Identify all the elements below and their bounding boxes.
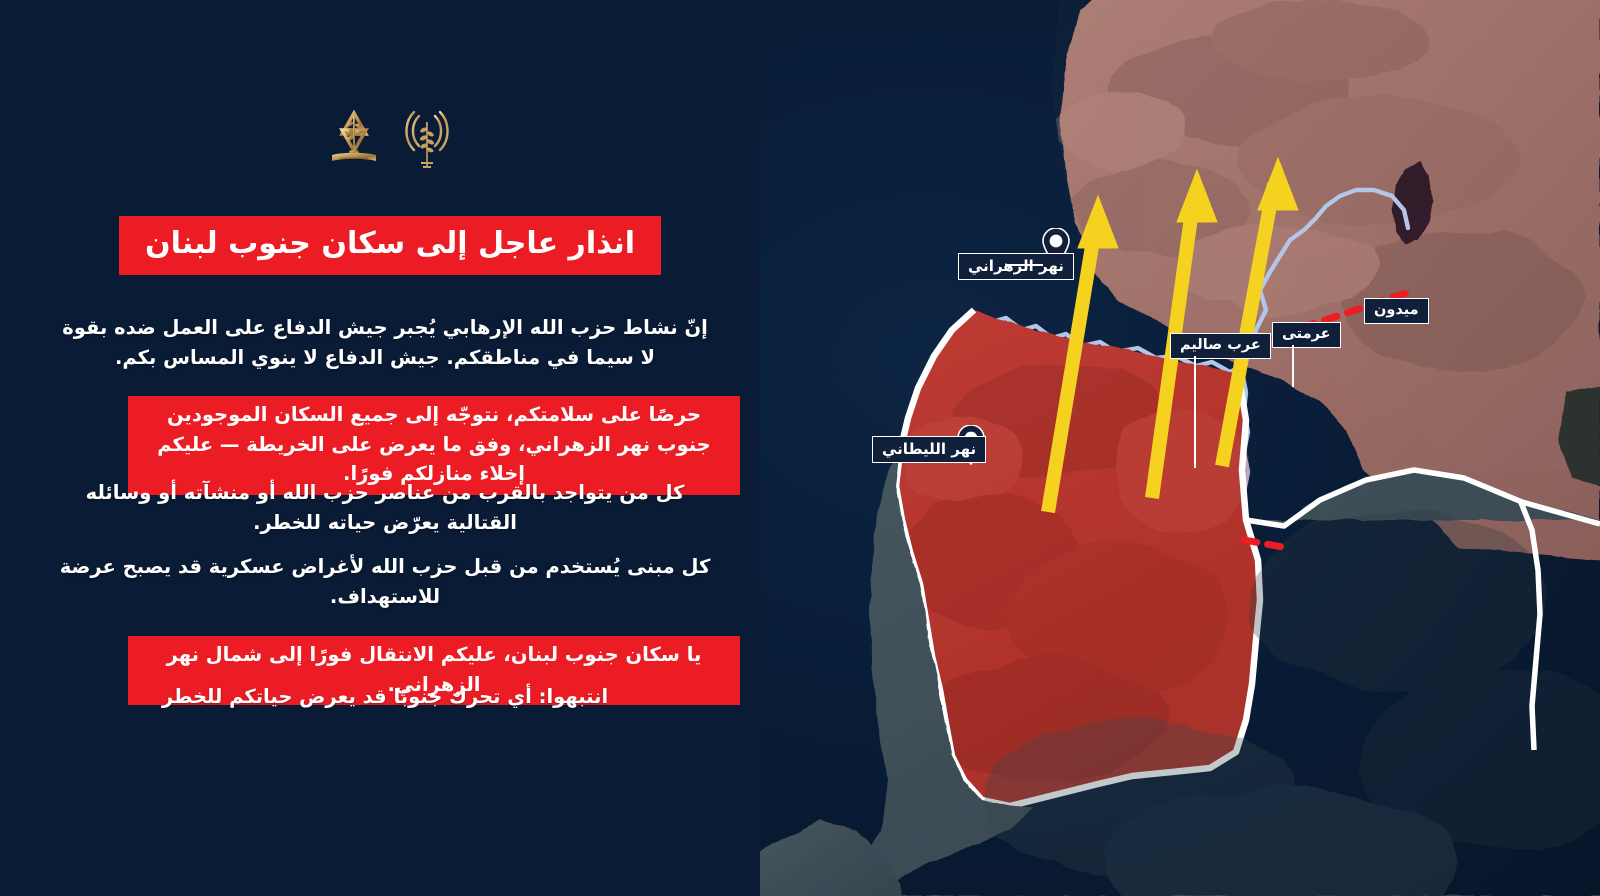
emblem-row — [0, 108, 780, 170]
map-label-zahrani-river: نهر الزهراني — [958, 253, 1074, 280]
warning-paragraph-1: إنّ نشاط حزب الله الإرهابي يُجبر جيش الد… — [55, 313, 715, 372]
map-label-armata: عرمتى — [1272, 322, 1341, 348]
map-label-arab-salim: عرب صاليم — [1170, 333, 1271, 359]
evacuation-warning-graphic: نهر الزهراني نهر الليطاني عرب صاليم عرمت… — [0, 0, 1600, 896]
warning-paragraph-4: انتبهوا: أي تحرك جنوبًا قد يعرض حياتكم ل… — [55, 682, 715, 712]
label-leader-arab-salim — [1194, 356, 1196, 468]
warning-text-panel: انذار عاجل إلى سكان جنوب لبنان إنّ نشاط … — [0, 0, 780, 896]
warning-paragraph-2: كل من يتواجد بالقرب من عناصر حزب الله أو… — [55, 478, 715, 537]
headline-banner-wrap: انذار عاجل إلى سكان جنوب لبنان — [0, 216, 780, 275]
map-panel: نهر الزهراني نهر الليطاني عرب صاليم عرمت… — [760, 0, 1600, 896]
map-label-maydoun: ميدون — [1364, 298, 1429, 324]
idf-emblem-icon — [328, 108, 380, 170]
map-label-litani-river: نهر الليطاني — [872, 436, 986, 463]
warning-paragraph-3: كل مبنى يُستخدم من قبل حزب الله لأغراض ع… — [55, 552, 715, 611]
idf-spokesperson-emblem-icon — [402, 108, 452, 170]
label-leader-armata — [1292, 345, 1294, 387]
headline-banner: انذار عاجل إلى سكان جنوب لبنان — [119, 216, 661, 275]
label-leader-zahrani — [1007, 264, 1043, 266]
